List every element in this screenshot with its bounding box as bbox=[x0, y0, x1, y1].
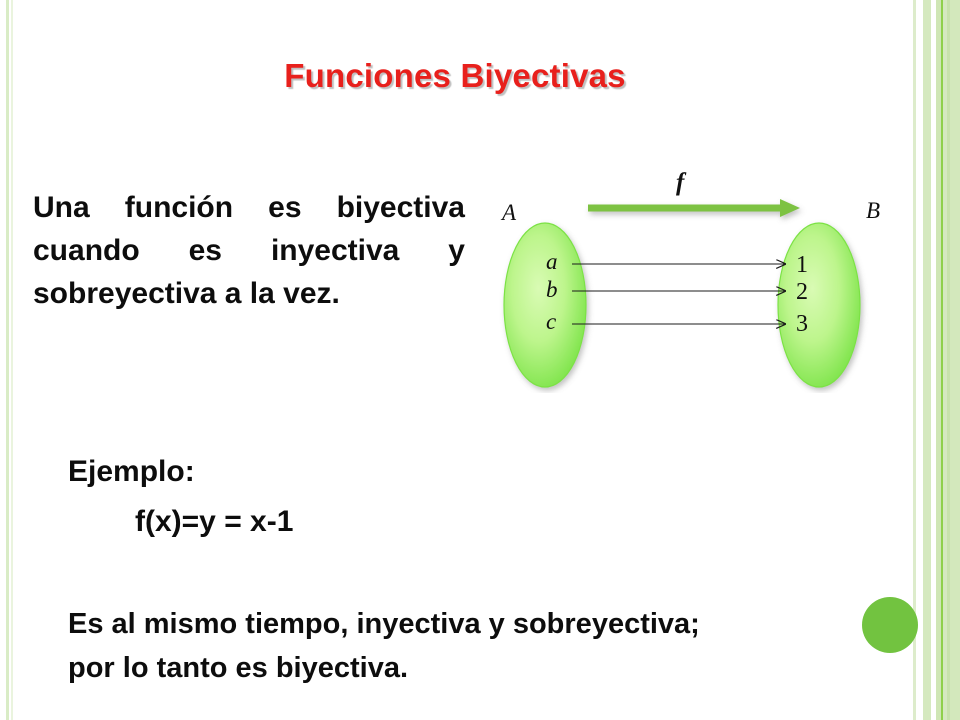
domain-element-c: c bbox=[546, 309, 556, 334]
function-label: f bbox=[676, 169, 687, 196]
slide-title: Funciones Biyectivas bbox=[0, 57, 910, 95]
conclusion-line-1: Es al mismo tiempo, inyectiva y sobreyec… bbox=[68, 608, 700, 640]
function-arrow bbox=[588, 199, 800, 217]
green-circle-decoration bbox=[862, 597, 918, 653]
right-stripe-2 bbox=[923, 0, 931, 720]
set-b-label: B bbox=[866, 198, 880, 223]
domain-element-b: b bbox=[546, 277, 558, 302]
mapping-row-1: a 1 bbox=[546, 249, 808, 278]
left-stripe-inner bbox=[11, 0, 13, 720]
codomain-element-1: 1 bbox=[796, 252, 808, 278]
definition-paragraph: Una función es biyectiva cuando es inyec… bbox=[33, 186, 465, 315]
set-b-ellipse bbox=[778, 223, 860, 387]
slide-canvas: Funciones Biyectivas Una función es biye… bbox=[0, 0, 960, 720]
codomain-element-3: 3 bbox=[796, 311, 808, 337]
conclusion-line-2: por lo tanto es biyectiva. bbox=[68, 652, 408, 684]
conclusion-text: Es al mismo tiempo, inyectiva y sobreyec… bbox=[68, 602, 898, 690]
codomain-element-2: 2 bbox=[796, 279, 808, 305]
right-stripe-6 bbox=[950, 0, 960, 720]
function-mapping-diagram: A B f a 1 b 2 c 3 bbox=[488, 168, 908, 393]
example-label: Ejemplo: bbox=[68, 455, 195, 489]
domain-element-a: a bbox=[546, 249, 558, 274]
example-formula: f(x)=y = x-1 bbox=[135, 505, 293, 539]
set-a-ellipse bbox=[504, 223, 586, 387]
set-a-label: A bbox=[500, 200, 517, 225]
left-stripe-outer bbox=[6, 0, 9, 720]
